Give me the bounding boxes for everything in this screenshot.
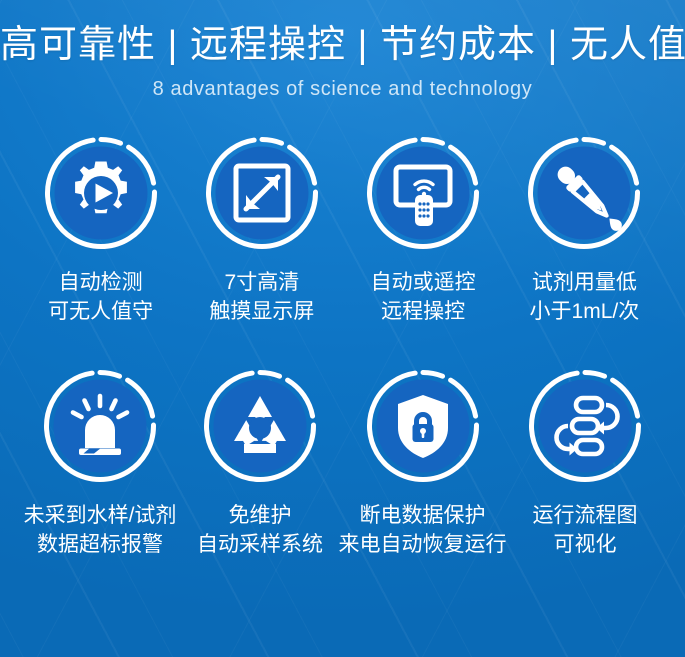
feature-caption: 自动或遥控 远程操控 [371, 268, 476, 326]
caption-line-2: 可视化 [533, 530, 638, 559]
feature-row-1: 自动检测 可无人值守 [0, 135, 685, 326]
caption-line-2: 可无人值守 [48, 297, 153, 326]
feature-item-touchscreen[interactable]: 7寸高清 触摸显示屏 [181, 135, 342, 326]
caption-line-2: 自动采样系统 [197, 530, 323, 559]
caption-line-2: 数据超标报警 [24, 530, 177, 559]
feature-item-remote-control[interactable]: 自动或遥控 远程操控 [343, 135, 504, 326]
feature-item-low-reagent[interactable]: 试剂用量低 小于1mL/次 [504, 135, 665, 326]
feature-item-flowchart[interactable]: 运行流程图 可视化 [505, 368, 665, 559]
flowchart-loop-icon [527, 368, 643, 484]
feature-caption: 断电数据保护 来电自动恢复运行 [339, 501, 507, 559]
poster-root: 高可靠性 | 远程操控 | 节约成本 | 无人值守 8 advantages o… [0, 0, 685, 657]
caption-line-1: 自动或遥控 [371, 268, 476, 297]
caption-line-1: 运行流程图 [533, 501, 638, 530]
feature-caption: 免维护 自动采样系统 [197, 501, 323, 559]
caption-line-1: 试剂用量低 [530, 268, 640, 297]
alarm-siren-icon [42, 368, 158, 484]
expand-screen-icon [204, 135, 320, 251]
tv-remote-wifi-icon [365, 135, 481, 251]
gear-play-icon [43, 135, 159, 251]
feature-caption: 未采到水样/试剂 数据超标报警 [24, 501, 177, 559]
feature-caption: 试剂用量低 小于1mL/次 [530, 268, 640, 326]
caption-line-2: 远程操控 [371, 297, 476, 326]
caption-line-2: 小于1mL/次 [530, 297, 640, 326]
feature-item-alarm[interactable]: 未采到水样/试剂 数据超标报警 [20, 368, 180, 559]
caption-line-1: 免维护 [197, 501, 323, 530]
caption-line-2: 来电自动恢复运行 [339, 530, 507, 559]
feature-item-maintenance-free[interactable]: 免维护 自动采样系统 [180, 368, 340, 559]
caption-line-2: 触摸显示屏 [209, 297, 314, 326]
feature-row-2: 未采到水样/试剂 数据超标报警 [0, 368, 685, 559]
feature-caption: 自动检测 可无人值守 [48, 268, 153, 326]
feature-caption: 运行流程图 可视化 [533, 501, 638, 559]
feature-grid: 自动检测 可无人值守 [0, 135, 685, 559]
dropper-pipette-icon [526, 135, 642, 251]
caption-line-1: 自动检测 [48, 268, 153, 297]
shield-lock-icon [365, 368, 481, 484]
header: 高可靠性 | 远程操控 | 节约成本 | 无人值守 8 advantages o… [0, 0, 685, 101]
feature-caption: 7寸高清 触摸显示屏 [209, 268, 314, 326]
feature-item-power-protection[interactable]: 断电数据保护 来电自动恢复运行 [340, 368, 505, 559]
feature-item-auto-detect[interactable]: 自动检测 可无人值守 [20, 135, 181, 326]
page-subtitle: 8 advantages of science and technology [0, 77, 685, 101]
caption-line-1: 7寸高清 [209, 268, 314, 297]
caption-line-1: 断电数据保护 [339, 501, 507, 530]
recycle-icon [202, 368, 318, 484]
caption-line-1: 未采到水样/试剂 [24, 501, 177, 530]
page-title: 高可靠性 | 远程操控 | 节约成本 | 无人值守 [0, 22, 685, 68]
